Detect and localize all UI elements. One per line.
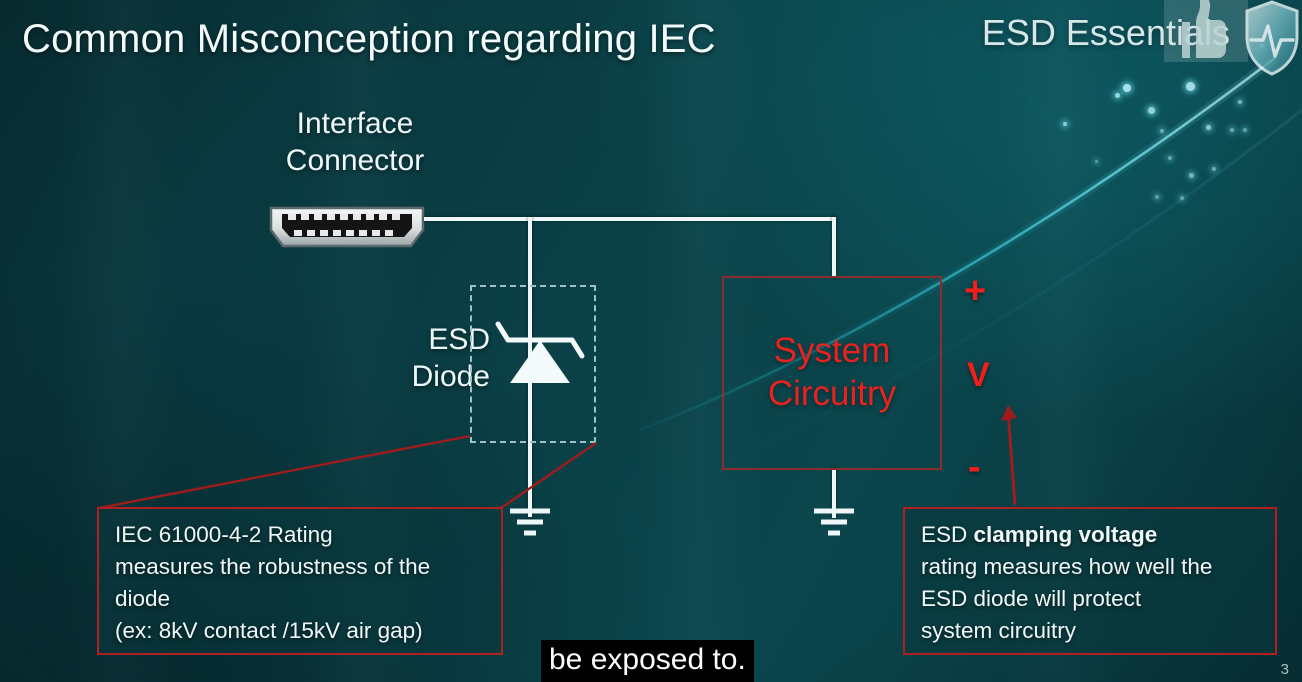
wire-system-feed bbox=[832, 217, 836, 278]
clamping-voltage-callout: ESD clamping voltage rating measures how… bbox=[903, 507, 1277, 655]
voltage-minus-marker: - bbox=[968, 448, 981, 486]
clamping-voltage-callout-line1: ESD clamping voltage bbox=[921, 519, 1261, 551]
clamping-voltage-callout-line2: rating measures how well the bbox=[921, 551, 1261, 583]
ground-icon bbox=[810, 505, 858, 539]
interface-connector-label: Interface Connector bbox=[253, 106, 457, 179]
thumbs-up-icon[interactable] bbox=[1164, 0, 1248, 62]
page-title: Common Misconception regarding IEC bbox=[22, 17, 716, 62]
background-particle bbox=[1155, 195, 1159, 199]
iec-rating-callout: IEC 61000-4-2 Rating measures the robust… bbox=[97, 507, 503, 655]
background-particle bbox=[1189, 173, 1194, 178]
clamping-voltage-bold: clamping voltage bbox=[974, 522, 1158, 547]
background-particle bbox=[1123, 84, 1131, 92]
voltage-v-marker: V bbox=[967, 358, 990, 392]
interface-connector-label-line2: Connector bbox=[253, 143, 457, 180]
background-particle bbox=[1238, 100, 1242, 104]
ground-icon bbox=[506, 505, 554, 539]
background-particle bbox=[1148, 107, 1155, 114]
thumbs-up-icon-glyph bbox=[1178, 0, 1230, 58]
esd-diode-label: ESD Diode bbox=[330, 322, 490, 395]
interface-connector-label-line1: Interface bbox=[253, 106, 457, 143]
voltage-plus-marker: + bbox=[964, 272, 986, 310]
esd-diode-label-line2: Diode bbox=[330, 359, 490, 396]
zener-diode-icon bbox=[490, 312, 590, 402]
iec-rating-callout-line4: (ex: 8kV contact /15kV air gap) bbox=[115, 615, 487, 647]
background-particle bbox=[1063, 122, 1067, 126]
background-particle bbox=[1212, 167, 1216, 171]
system-circuitry-line1: System bbox=[774, 330, 891, 373]
background-particle bbox=[1115, 93, 1120, 98]
system-circuitry-line2: Circuitry bbox=[768, 373, 896, 416]
background-particle bbox=[1095, 160, 1098, 163]
system-circuitry-box: System Circuitry bbox=[722, 276, 942, 470]
iec-rating-callout-line3: diode bbox=[115, 583, 487, 615]
wire-top-horizontal bbox=[424, 217, 836, 221]
iec-rating-callout-line1: IEC 61000-4-2 Rating bbox=[115, 519, 487, 551]
iec-rating-callout-line2: measures the robustness of the bbox=[115, 551, 487, 583]
clamping-voltage-prefix: ESD bbox=[921, 522, 974, 547]
background-particle bbox=[1180, 196, 1184, 200]
subtitle-caption: be exposed to. bbox=[541, 640, 754, 682]
background-particle bbox=[1168, 156, 1172, 160]
shield-heartbeat-icon bbox=[1243, 0, 1301, 76]
esd-diode-label-line1: ESD bbox=[330, 322, 490, 359]
slide-canvas: Common Misconception regarding IEC ESD E… bbox=[0, 0, 1302, 682]
background-particle bbox=[1230, 128, 1234, 132]
hdmi-connector-icon bbox=[268, 203, 426, 251]
background-particle bbox=[1186, 82, 1195, 91]
clamping-voltage-callout-line3: ESD diode will protect bbox=[921, 583, 1261, 615]
background-particle bbox=[1160, 129, 1164, 133]
background-particle bbox=[1206, 125, 1211, 130]
clamping-voltage-callout-line4: system circuitry bbox=[921, 615, 1261, 647]
background-particle bbox=[1243, 128, 1247, 132]
page-number: 3 bbox=[1281, 661, 1289, 678]
